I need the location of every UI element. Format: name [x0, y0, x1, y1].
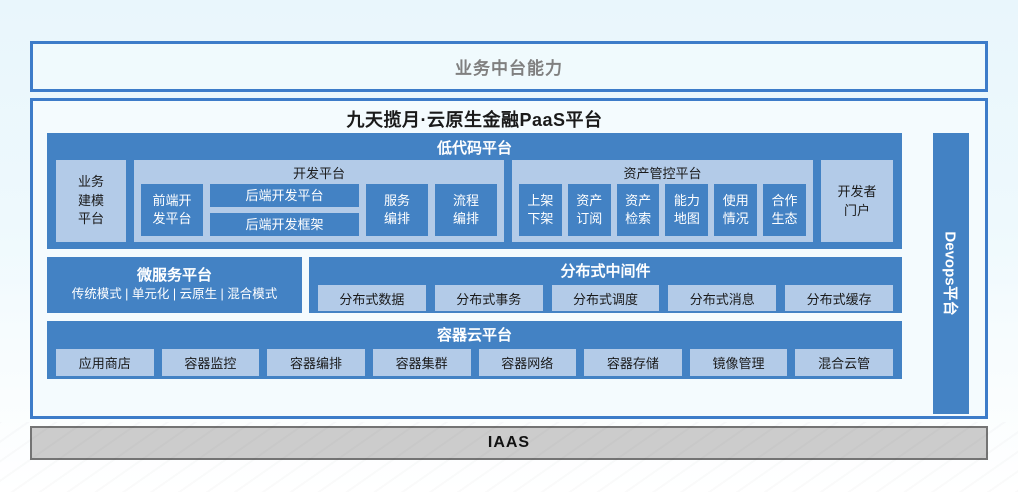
- iaas-band: IAAS: [30, 426, 988, 460]
- service-orchestration-tile[interactable]: 服务编排: [366, 184, 428, 236]
- middleware-item-tile-label: 分布式数据: [339, 289, 404, 308]
- asset-item-tile-label: 资产订阅: [576, 192, 602, 227]
- asset-item-tile[interactable]: 合作生态: [763, 184, 806, 236]
- container-cloud-items-row: 应用商店容器监控容器编排容器集群容器网络容器存储镜像管理混合云管: [47, 345, 902, 376]
- devops-platform-label: Devops平台: [941, 231, 962, 315]
- backend-dev-framework-label: 后端开发框架: [245, 216, 323, 234]
- low-code-platform-body: 业务建模平台 开发平台 前端开发平台 后端开发平台: [47, 160, 902, 249]
- container-item-tile[interactable]: 镜像管理: [690, 349, 788, 376]
- container-item-tile-label: 镜像管理: [713, 353, 765, 372]
- asset-item-tile-label: 资产检索: [625, 192, 651, 227]
- backend-dev-platform-label: 后端开发平台: [245, 187, 323, 205]
- business-modeling-platform-label: 业务建模平台: [78, 173, 104, 230]
- frontend-dev-platform-label: 前端开发平台: [152, 192, 191, 227]
- low-code-platform-title: 低代码平台: [47, 133, 902, 158]
- asset-item-tile-label: 使用情况: [723, 192, 749, 227]
- asset-management-platform-group: 资产管控平台 上架下架资产订阅资产检索能力地图使用情况合作生态: [512, 160, 813, 242]
- middleware-item-tile[interactable]: 分布式调度: [552, 285, 660, 311]
- asset-item-tile[interactable]: 能力地图: [665, 184, 708, 236]
- container-item-tile-label: 容器网络: [501, 353, 553, 372]
- development-platform-row: 前端开发平台 后端开发平台 后端开发框架 服务编排: [134, 184, 504, 242]
- low-code-platform-section: 低代码平台 业务建模平台 开发平台 前端开发平台 后端开发平: [47, 133, 902, 249]
- backend-tiles-stack: 后端开发平台 后端开发框架: [210, 184, 359, 236]
- container-item-tile[interactable]: 容器存储: [584, 349, 682, 376]
- distributed-middleware-title: 分布式中间件: [309, 257, 902, 281]
- business-modeling-platform-cell[interactable]: 业务建模平台: [56, 160, 126, 242]
- container-item-tile[interactable]: 容器监控: [162, 349, 260, 376]
- paas-platform-container: 九天揽月·云原生金融PaaS平台 Devops平台 低代码平台 业务建模平台 开…: [30, 98, 988, 419]
- container-item-tile[interactable]: 容器网络: [479, 349, 577, 376]
- asset-management-platform-title: 资产管控平台: [512, 160, 813, 184]
- development-platform-group: 开发平台 前端开发平台 后端开发平台 后端开发框架: [134, 160, 504, 242]
- business-middle-platform-band: 业务中台能力: [30, 41, 988, 92]
- developer-portal-label: 开发者门户: [837, 182, 876, 221]
- developer-portal-cell[interactable]: 开发者门户: [821, 160, 893, 242]
- microservice-platform-section[interactable]: 微服务平台 传统模式 | 单元化 | 云原生 | 混合模式: [47, 257, 302, 313]
- middleware-item-tile[interactable]: 分布式消息: [668, 285, 776, 311]
- asset-management-items-row: 上架下架资产订阅资产检索能力地图使用情况合作生态: [512, 184, 813, 242]
- backend-dev-platform-tile[interactable]: 后端开发平台: [210, 184, 359, 207]
- middleware-item-tile[interactable]: 分布式数据: [318, 285, 426, 311]
- backend-dev-framework-tile[interactable]: 后端开发框架: [210, 213, 359, 236]
- asset-item-tile[interactable]: 资产订阅: [568, 184, 611, 236]
- middleware-item-tile-label: 分布式消息: [690, 289, 755, 308]
- distributed-middleware-items-row: 分布式数据分布式事务分布式调度分布式消息分布式缓存: [309, 281, 902, 311]
- architecture-diagram: 业务中台能力 九天揽月·云原生金融PaaS平台 Devops平台 低代码平台 业…: [0, 0, 1018, 492]
- container-item-tile-label: 应用商店: [79, 353, 131, 372]
- business-middle-platform-title: 业务中台能力: [455, 54, 563, 79]
- container-item-tile[interactable]: 应用商店: [56, 349, 154, 376]
- distributed-middleware-section: 分布式中间件 分布式数据分布式事务分布式调度分布式消息分布式缓存: [309, 257, 902, 313]
- microservice-platform-modes: 传统模式 | 单元化 | 云原生 | 混合模式: [72, 286, 278, 303]
- asset-item-tile-label: 合作生态: [772, 192, 798, 227]
- container-item-tile-label: 混合云管: [818, 353, 870, 372]
- asset-item-tile[interactable]: 上架下架: [519, 184, 562, 236]
- container-item-tile[interactable]: 混合云管: [795, 349, 893, 376]
- devops-platform-bar[interactable]: Devops平台: [933, 133, 969, 414]
- asset-item-tile[interactable]: 使用情况: [714, 184, 757, 236]
- container-cloud-platform-section: 容器云平台 应用商店容器监控容器编排容器集群容器网络容器存储镜像管理混合云管: [47, 321, 902, 379]
- flow-orchestration-tile[interactable]: 流程编排: [435, 184, 497, 236]
- development-platform-title: 开发平台: [134, 160, 504, 184]
- microservice-platform-title: 微服务平台: [137, 267, 212, 286]
- container-cloud-platform-title: 容器云平台: [47, 321, 902, 345]
- middleware-item-tile[interactable]: 分布式事务: [435, 285, 543, 311]
- frontend-dev-platform-tile[interactable]: 前端开发平台: [141, 184, 203, 236]
- container-item-tile[interactable]: 容器编排: [267, 349, 365, 376]
- flow-orchestration-label: 流程编排: [453, 192, 479, 227]
- iaas-title: IAAS: [488, 434, 530, 452]
- asset-item-tile-label: 能力地图: [674, 192, 700, 227]
- container-item-tile[interactable]: 容器集群: [373, 349, 471, 376]
- middleware-item-tile-label: 分布式调度: [573, 289, 638, 308]
- asset-item-tile[interactable]: 资产检索: [617, 184, 660, 236]
- container-item-tile-label: 容器集群: [396, 353, 448, 372]
- service-orchestration-label: 服务编排: [384, 192, 410, 227]
- middleware-item-tile-label: 分布式缓存: [807, 289, 872, 308]
- container-item-tile-label: 容器监控: [184, 353, 236, 372]
- middleware-item-tile-label: 分布式事务: [456, 289, 521, 308]
- container-item-tile-label: 容器编排: [290, 353, 342, 372]
- paas-platform-title: 九天揽月·云原生金融PaaS平台: [33, 105, 916, 133]
- container-item-tile-label: 容器存储: [607, 353, 659, 372]
- middleware-item-tile[interactable]: 分布式缓存: [785, 285, 893, 311]
- asset-item-tile-label: 上架下架: [527, 192, 553, 227]
